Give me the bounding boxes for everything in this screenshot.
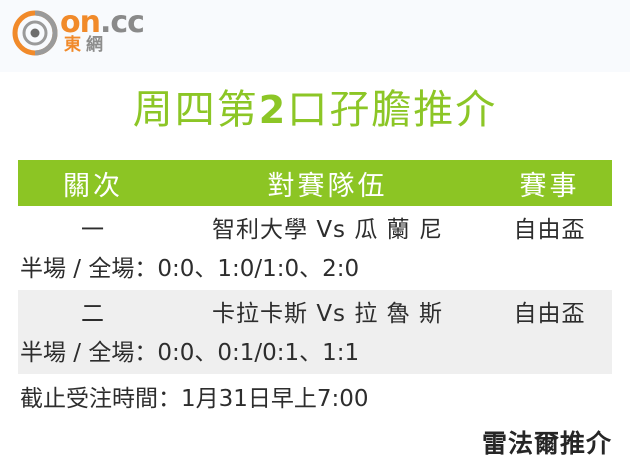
table-row: 一 智利大學 Vs 瓜 蘭 尼 自由盃	[18, 206, 612, 248]
site-header-band: on.cc 東網	[0, 0, 630, 72]
table-row: 二 卡拉卡斯 Vs 拉 魯 斯 自由盃	[18, 290, 612, 332]
betting-deadline: 截止受注時間：1月31日早上7:00	[20, 378, 369, 420]
row-match: 卡拉卡斯 Vs 拉 魯 斯	[168, 294, 487, 328]
page-title-number: 2	[259, 88, 287, 132]
page-title-suffix: 口孖膽推介	[287, 87, 497, 133]
tips-table: 關次 對賽隊伍 賽事 一 智利大學 Vs 瓜 蘭 尼 自由盃 半場 / 全場：0…	[18, 160, 612, 374]
oncc-circle-icon	[12, 10, 58, 56]
column-header-round: 關次	[18, 164, 168, 203]
row-round: 二	[18, 294, 168, 328]
row-round: 一	[18, 210, 168, 244]
page-title: 周四第2口孖膽推介	[0, 84, 630, 136]
page-title-prefix: 周四第	[133, 87, 259, 133]
row-score-line: 半場 / 全場：0:0、1:0/1:0、2:0	[18, 248, 612, 290]
match-block-2: 二 卡拉卡斯 Vs 拉 魯 斯 自由盃 半場 / 全場：0:0、0:1/0:1、…	[18, 290, 612, 374]
row-match: 智利大學 Vs 瓜 蘭 尼	[168, 210, 487, 244]
table-header-row: 關次 對賽隊伍 賽事	[18, 160, 612, 206]
logo-cn-char-1: 東	[64, 35, 86, 55]
row-score-line: 半場 / 全場：0:0、0:1/0:1、1:1	[18, 332, 612, 374]
row-event: 自由盃	[487, 294, 612, 328]
oncc-wordmark: on.cc	[60, 8, 144, 38]
row-event: 自由盃	[487, 210, 612, 244]
column-header-event: 賽事	[487, 164, 612, 203]
tipster-byline: 雷法爾推介	[482, 424, 612, 460]
match-block-1: 一 智利大學 Vs 瓜 蘭 尼 自由盃 半場 / 全場：0:0、1:0/1:0、…	[18, 206, 612, 290]
oncc-chinese-name: 東網	[64, 36, 108, 55]
column-header-match: 對賽隊伍	[168, 164, 487, 203]
oncc-logo[interactable]: on.cc 東網	[12, 6, 272, 64]
logo-cn-char-2: 網	[86, 35, 108, 55]
